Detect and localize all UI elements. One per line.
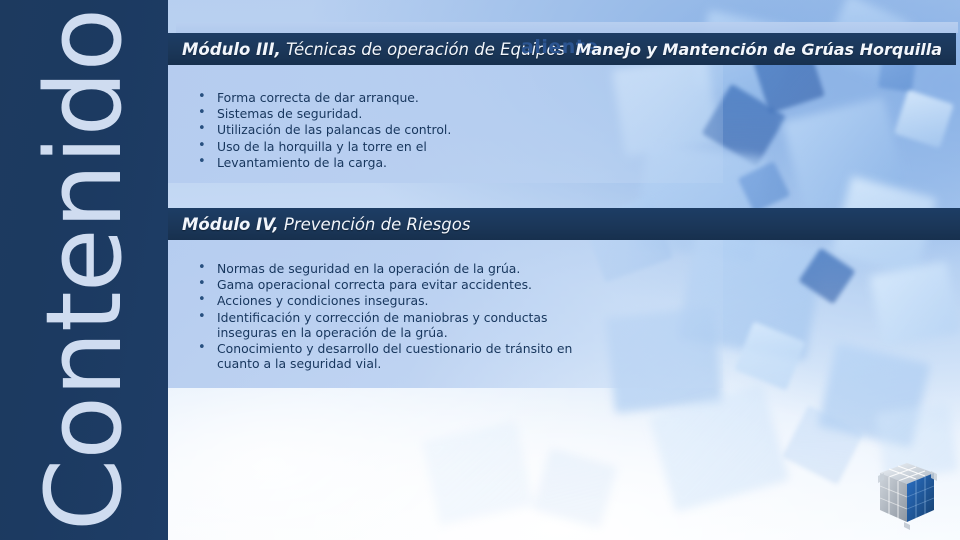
bullet-text: Acciones y condiciones inseguras. [217, 293, 428, 308]
list-item: Forma correcta de dar arranque. [192, 90, 451, 105]
list-item: Uso de la horquilla y la torre en el [192, 139, 451, 154]
list-item: Normas de seguridad en la operación de l… [192, 261, 572, 276]
bullet-text: Utilización de las palancas de control. [217, 122, 451, 137]
list-item: Conocimiento y desarrollo del cuestionar… [192, 341, 572, 371]
bullet-text: Forma correcta de dar arranque. [217, 90, 419, 105]
section-heading-text: Módulo III, Técnicas de operación de Equ… [182, 40, 565, 59]
list-item: Identificación y corrección de maniobras… [192, 310, 572, 340]
bullet-text: Normas de seguridad en la operación de l… [217, 261, 520, 276]
bullet-text: Gama operacional correcta para evitar ac… [217, 277, 532, 292]
list-item: Utilización de las palancas de control. [192, 122, 451, 137]
bullet-text: Sistemas de seguridad. [217, 106, 362, 121]
side-tab-panel: Contenido [0, 0, 168, 540]
cube-logo-icon [876, 460, 938, 532]
section-heading-rest: Técnicas de operación de Equipos [281, 40, 566, 59]
bullet-text-continuation: cuanto a la seguridad vial. [217, 356, 572, 371]
list-item: Gama operacional correcta para evitar ac… [192, 277, 572, 292]
list-item: Sistemas de seguridad. [192, 106, 451, 121]
section-heading-rest: Prevención de Riesgos [279, 215, 471, 234]
list-item: Levantamiento de la carga. [192, 155, 451, 170]
section-heading-strong: Módulo III, [182, 40, 281, 59]
bullet-text: Levantamiento de la carga. [217, 155, 387, 170]
course-title-text: Manejo y Mantención de Grúas Horquilla [576, 40, 942, 59]
slide-canvas: Módulo III, Técnicas de operación de Equ… [0, 0, 960, 540]
bullet-text: Identificación y corrección de maniobras… [217, 310, 547, 325]
header-ledge-top [176, 22, 958, 33]
slide-course-title: Manejo y Mantención de Grúas Horquilla [576, 33, 956, 65]
section-heading-strong: Módulo IV, [182, 215, 279, 234]
bullet-text: Uso de la horquilla y la torre en el [217, 139, 427, 154]
side-tab-label: Contenido [32, 9, 136, 531]
section-header-module-4: Módulo IV, Prevención de Riesgos [163, 208, 960, 240]
bullet-text-continuation: inseguras en la operación de la grúa. [217, 325, 572, 340]
section-heading-text: Módulo IV, Prevención de Riesgos [182, 215, 470, 234]
bullet-text: Conocimiento y desarrollo del cuestionar… [217, 341, 572, 356]
cube-logo [876, 460, 938, 532]
bullet-list-module-3: Forma correcta de dar arranque. Sistemas… [192, 90, 451, 171]
bullet-list-module-4: Normas de seguridad en la operación de l… [192, 261, 572, 372]
list-item: Acciones y condiciones inseguras. [192, 293, 572, 308]
